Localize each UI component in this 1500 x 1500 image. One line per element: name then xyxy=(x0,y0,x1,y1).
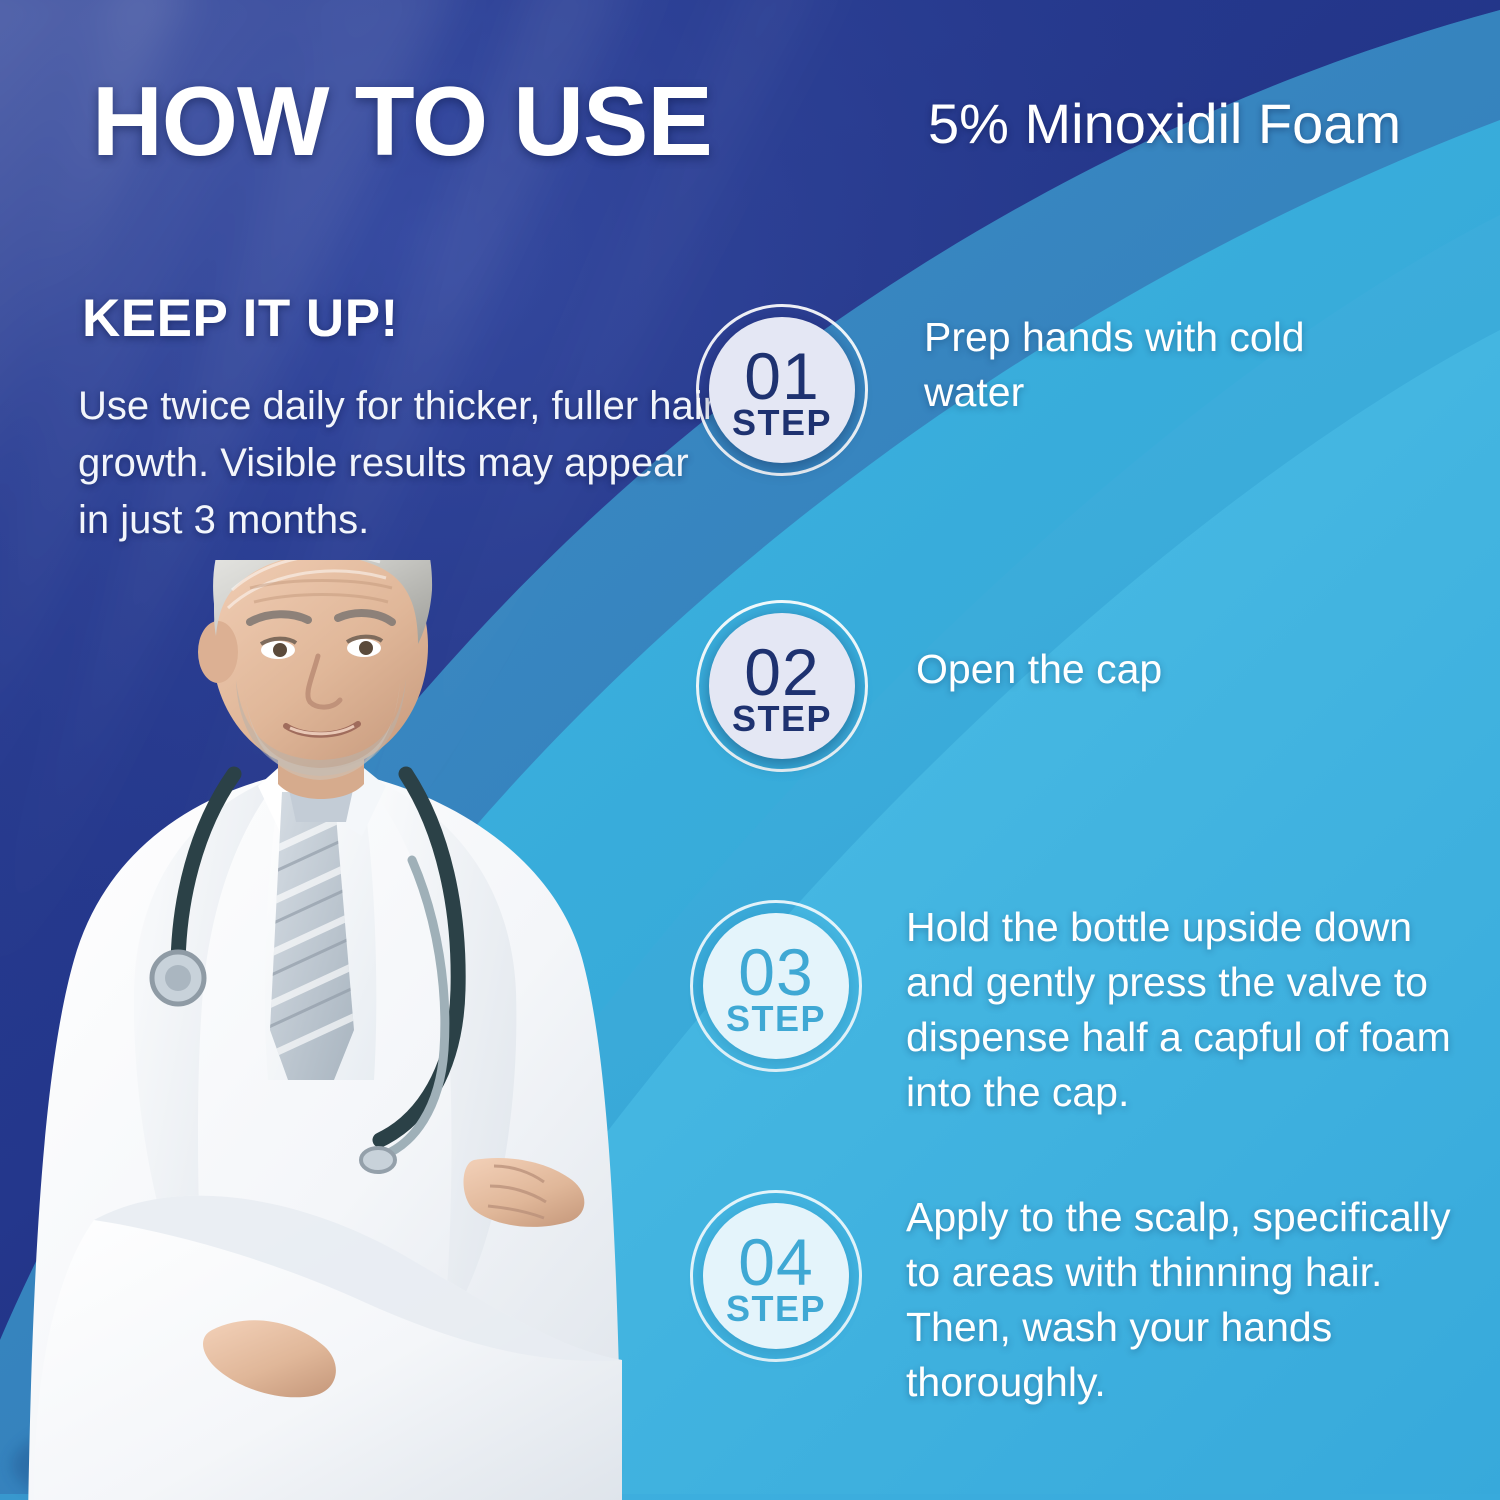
step-label: STEP xyxy=(732,405,832,441)
header: HOW TO USE 5% Minoxidil Foam xyxy=(0,0,1500,190)
step-item-02: 02 STEP Open the cap xyxy=(696,600,1476,772)
step-item-01: 01 STEP Prep hands with cold water xyxy=(696,304,1476,476)
step-description: Prep hands with cold water xyxy=(924,304,1314,421)
step-badge-01: 01 STEP xyxy=(696,304,868,476)
step-number: 04 xyxy=(738,1231,813,1294)
step-description: Open the cap xyxy=(916,600,1346,697)
step-number: 01 xyxy=(744,345,819,408)
keep-it-up-heading: KEEP IT UP! xyxy=(82,288,399,349)
step-item-03: 03 STEP Hold the bottle upside down and … xyxy=(690,900,1490,1120)
keep-it-up-body: Use twice daily for thicker, fuller hair… xyxy=(78,378,718,548)
step-badge-03: 03 STEP xyxy=(690,900,862,1072)
step-badge-02: 02 STEP xyxy=(696,600,868,772)
doctor-portrait xyxy=(0,560,682,1500)
step-number: 02 xyxy=(744,641,819,704)
infographic-poster: HOW TO USE 5% Minoxidil Foam KEEP IT UP!… xyxy=(0,0,1500,1500)
step-label: STEP xyxy=(732,701,832,737)
step-number: 03 xyxy=(738,941,813,1004)
product-subtitle: 5% Minoxidil Foam xyxy=(928,96,1401,152)
step-item-04: 04 STEP Apply to the scalp, specifically… xyxy=(690,1190,1490,1410)
step-label: STEP xyxy=(726,1291,826,1327)
step-description: Apply to the scalp, specifically to area… xyxy=(906,1190,1490,1410)
step-description: Hold the bottle upside down and gently p… xyxy=(906,900,1490,1120)
step-badge-04: 04 STEP xyxy=(690,1190,862,1362)
step-label: STEP xyxy=(726,1001,826,1037)
page-title: HOW TO USE xyxy=(92,72,712,170)
